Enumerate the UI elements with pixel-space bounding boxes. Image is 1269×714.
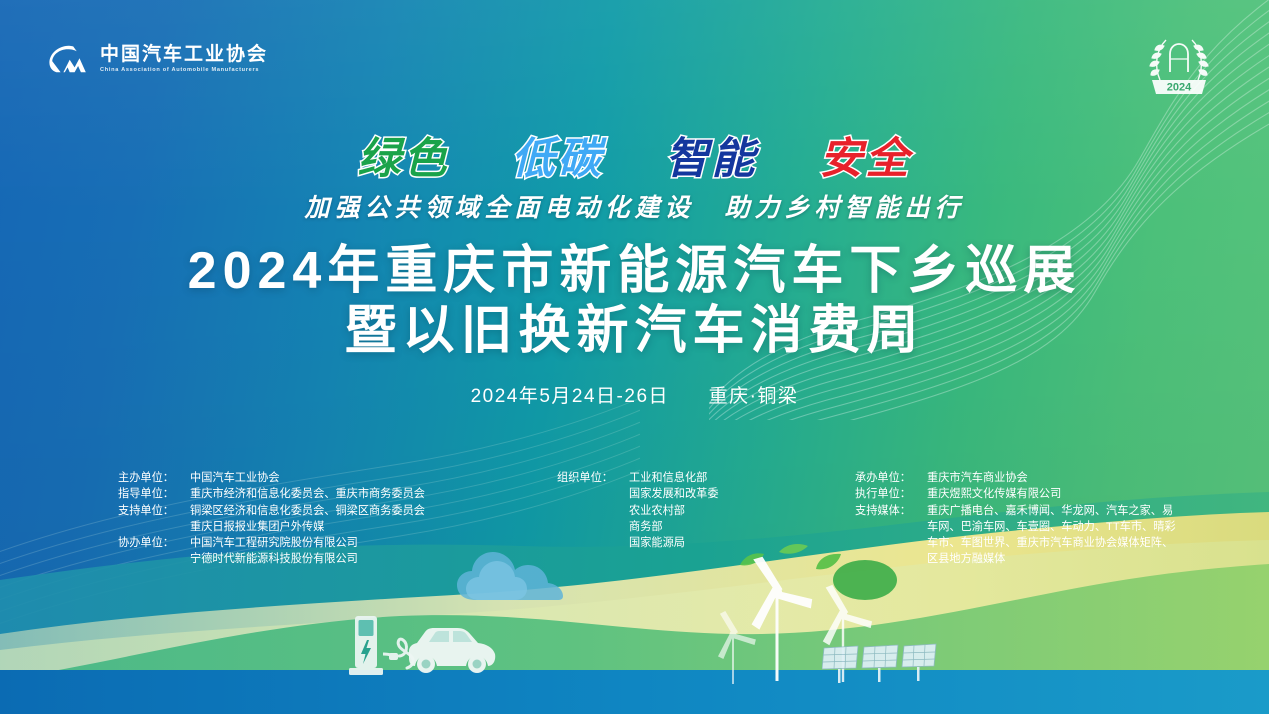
credit-row: 主办单位： 中国汽车工业协会 xyxy=(118,470,425,486)
solar-panel-icon xyxy=(902,644,936,681)
event-location: 重庆·铜梁 xyxy=(709,386,799,407)
credit-value: 重庆市汽车商业协会 xyxy=(927,470,1176,486)
credit-value: 重庆日报报业集团户外传媒 xyxy=(190,519,425,535)
slogan-green: 绿色 xyxy=(358,124,450,186)
laurel-wreath-car-emblem: 2024 xyxy=(1134,28,1224,100)
ev-charging-station-icon xyxy=(349,616,413,675)
credit-row: 支持媒体： 重庆广播电台、嘉禾博闻、华龙网、汽车之家、易 xyxy=(855,503,1176,519)
credit-value: 中国汽车工程研究院股份有限公司 xyxy=(190,535,425,551)
credit-row: 支持媒体： 区县地方融媒体 xyxy=(855,551,1176,567)
credit-label: 执行单位： xyxy=(855,486,927,502)
credit-label: 指导单位： xyxy=(118,486,190,502)
credits-column-right: 承办单位： 重庆市汽车商业协会 执行单位： 重庆煜熙文化传媒有限公司 支持媒体：… xyxy=(855,470,1176,568)
solar-panel-icon xyxy=(862,645,898,682)
event-date: 2024年5月24日-26日 xyxy=(471,386,669,407)
event-datetime-location: 2024年5月24日-26日 重庆·铜梁 xyxy=(0,381,1269,408)
slogan-low-carbon: 低碳 xyxy=(512,124,604,186)
page-title-line2: 暨以旧换新汽车消费周 xyxy=(0,304,1269,359)
credits-column-middle: 组织单位： 工业和信息化部 组织单位： 国家发展和改革委 组织单位： 农业农村部… xyxy=(557,470,719,551)
slogan-safe: 安全 xyxy=(820,124,912,186)
credit-label: 主办单位： xyxy=(118,470,190,486)
association-logo: 中国汽车工业协会 China Association of Automobile… xyxy=(48,44,268,74)
credit-row: 支持媒体： 车市、车图世界、重庆市汽车商业协会媒体矩阵、 xyxy=(855,535,1176,551)
wind-turbine-icon xyxy=(719,612,755,684)
credit-value: 中国汽车工业协会 xyxy=(190,470,425,486)
credit-label: 组织单位： xyxy=(557,470,629,486)
badge-year: 2024 xyxy=(1167,82,1192,94)
credit-value: 区县地方融媒体 xyxy=(927,551,1176,567)
credit-value: 车市、车图世界、重庆市汽车商业协会媒体矩阵、 xyxy=(927,535,1176,551)
credit-value: 商务部 xyxy=(629,519,719,535)
sub-slogan: 加强公共领域全面电动化建设 助力乡村智能出行 xyxy=(0,188,1269,224)
credit-row: 组织单位： 商务部 xyxy=(557,519,719,535)
credit-value: 重庆广播电台、嘉禾博闻、华龙网、汽车之家、易 xyxy=(927,503,1176,519)
credit-row: 组织单位： 国家发展和改革委 xyxy=(557,486,719,502)
credit-row: 组织单位： 工业和信息化部 xyxy=(557,470,719,486)
credit-label: 承办单位： xyxy=(855,470,927,486)
credits-column-left: 主办单位： 中国汽车工业协会 指导单位： 重庆市经济和信息化委员会、重庆市商务委… xyxy=(118,470,425,568)
credit-value: 铜梁区经济和信息化委员会、铜梁区商务委员会 xyxy=(190,503,425,519)
credit-label: 协办单位： xyxy=(118,535,190,551)
credit-row: 协办单位： 中国汽车工程研究院股份有限公司 xyxy=(118,535,425,551)
credit-value: 重庆煜熙文化传媒有限公司 xyxy=(927,486,1176,502)
credit-row: 协办单位： 宁德时代新能源科技股份有限公司 xyxy=(118,551,425,567)
credit-label: 支持单位： xyxy=(118,503,190,519)
credit-label: 支持媒体： xyxy=(855,503,927,519)
credit-value: 工业和信息化部 xyxy=(629,470,719,486)
credit-row: 执行单位： 重庆煜熙文化传媒有限公司 xyxy=(855,486,1176,502)
solar-panel-icon xyxy=(822,646,858,683)
credit-value: 车网、巴渝车网、车壹圈、车动力、TT车市、晴彩 xyxy=(927,519,1176,535)
credit-row: 组织单位： 农业农村部 xyxy=(557,503,719,519)
ev-charging-scene xyxy=(345,606,505,678)
credit-row: 支持单位： 重庆日报报业集团户外传媒 xyxy=(118,519,425,535)
event-banner: 中国汽车工业协会 China Association of Automobile… xyxy=(0,0,1269,714)
credit-value: 农业农村部 xyxy=(629,503,719,519)
page-title-line1: 2024年重庆市新能源汽车下乡巡展 xyxy=(0,244,1269,299)
credit-row: 支持媒体： 车网、巴渝车网、车壹圈、车动力、TT车市、晴彩 xyxy=(855,519,1176,535)
credit-row: 支持单位： 铜梁区经济和信息化委员会、铜梁区商务委员会 xyxy=(118,503,425,519)
slogan-row: 绿色 低碳 智能 安全 xyxy=(0,124,1269,186)
cam-logo-icon xyxy=(48,44,90,74)
logo-title-en: China Association of Automobile Manufact… xyxy=(100,68,268,74)
credit-row: 承办单位： 重庆市汽车商业协会 xyxy=(855,470,1176,486)
slogan-smart: 智能 xyxy=(666,124,758,186)
credit-row: 指导单位： 重庆市经济和信息化委员会、重庆市商务委员会 xyxy=(118,486,425,502)
electric-car-icon xyxy=(409,628,495,673)
credit-value: 重庆市经济和信息化委员会、重庆市商务委员会 xyxy=(190,486,425,502)
credit-row: 组织单位： 国家能源局 xyxy=(557,535,719,551)
logo-title-cn: 中国汽车工业协会 xyxy=(100,45,268,64)
credit-value: 国家发展和改革委 xyxy=(629,486,719,502)
credit-value: 国家能源局 xyxy=(629,535,719,551)
credit-value: 宁德时代新能源科技股份有限公司 xyxy=(190,551,425,567)
water-band xyxy=(0,670,1269,714)
solar-panel-group xyxy=(822,642,937,688)
credits-section: 主办单位： 中国汽车工业协会 指导单位： 重庆市经济和信息化委员会、重庆市商务委… xyxy=(0,470,1269,580)
